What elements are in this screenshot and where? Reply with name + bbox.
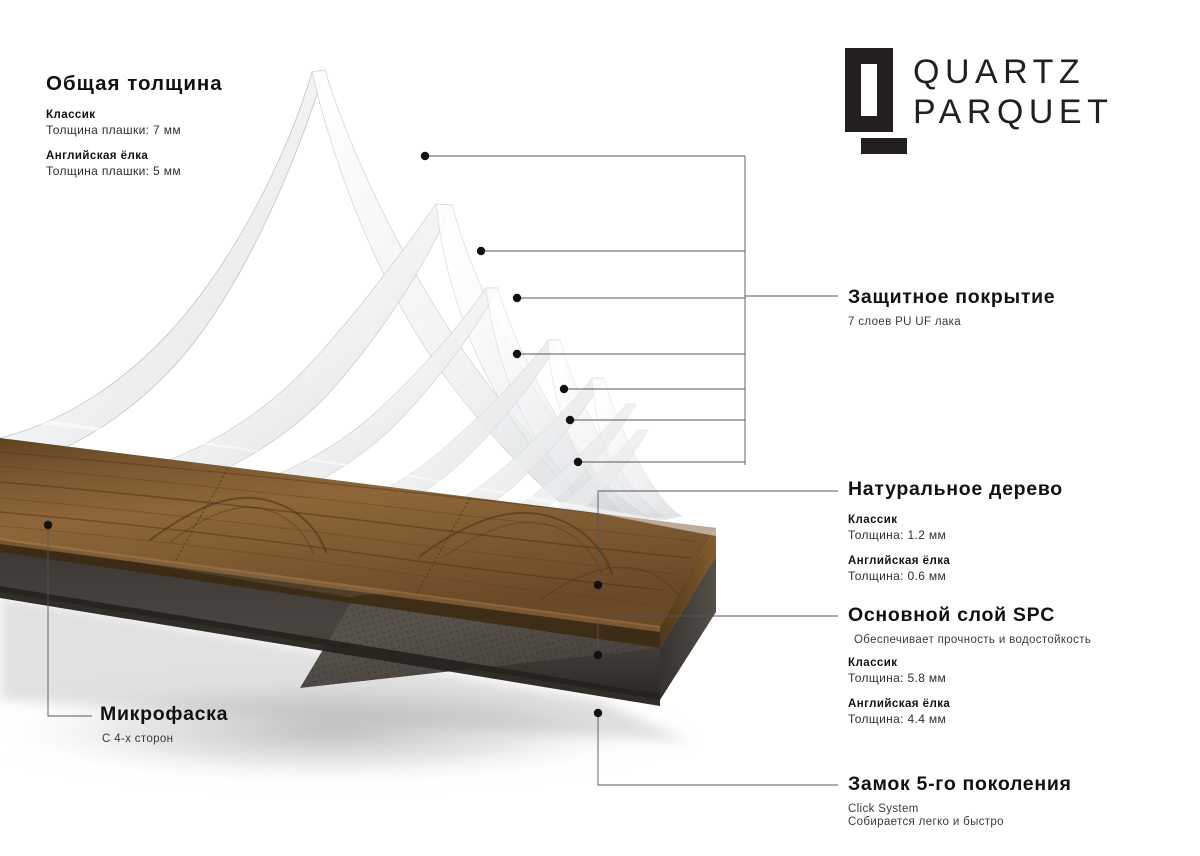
variant-label: Классик — [848, 657, 1091, 669]
logo-q-slot-icon — [861, 64, 877, 116]
lock-block: Замок 5-го поколения Click System Собира… — [848, 773, 1072, 828]
total-thickness-title: Общая толщина — [46, 72, 223, 96]
natural-wood-classic: Классик Толщина: 1.2 мм — [848, 514, 1063, 542]
lock-line-2: Собирается легко и быстро — [848, 816, 1072, 828]
spc-core-herringbone: Английская ёлка Толщина: 4.4 мм — [848, 698, 1091, 726]
variant-value: Толщина: 5.8 мм — [848, 671, 1091, 685]
variant-value: Толщина плашки: 5 мм — [46, 164, 223, 178]
variant-label: Английская ёлка — [46, 150, 223, 162]
logo-q-tail-icon — [861, 138, 907, 154]
total-thickness-herringbone: Английская ёлка Толщина плашки: 5 мм — [46, 150, 223, 178]
variant-label: Английская ёлка — [848, 698, 1091, 710]
lock-title: Замок 5-го поколения — [848, 773, 1072, 796]
logo-line-parquet: PARQUET — [913, 92, 1113, 132]
logo-line-quartz: QUARTZ — [913, 52, 1113, 92]
total-thickness-block: Общая толщина Классик Толщина плашки: 7 … — [46, 72, 223, 178]
total-thickness-classic: Классик Толщина плашки: 7 мм — [46, 109, 223, 137]
spc-core-subtitle: Обеспечивает прочность и водостойкость — [854, 634, 1091, 646]
spc-core-title: Основной слой SPC — [848, 604, 1091, 627]
lock-line-1: Click System — [848, 803, 1072, 815]
variant-value: Толщина: 4.4 мм — [848, 712, 1091, 726]
protective-coating-block: Защитное покрытие 7 слоев PU UF лака — [848, 286, 1055, 328]
variant-value: Толщина: 0.6 мм — [848, 569, 1063, 583]
spc-core-classic: Классик Толщина: 5.8 мм — [848, 657, 1091, 685]
spc-core-block: Основной слой SPC Обеспечивает прочность… — [848, 604, 1091, 726]
microbevel-subtitle: С 4-х сторон — [102, 733, 228, 745]
protective-coating-title: Защитное покрытие — [848, 286, 1055, 309]
variant-label: Классик — [848, 514, 1063, 526]
variant-label: Классик — [46, 109, 223, 121]
variant-value: Толщина: 1.2 мм — [848, 528, 1063, 542]
protective-coating-subtitle: 7 слоев PU UF лака — [848, 316, 1055, 328]
natural-wood-block: Натуральное дерево Классик Толщина: 1.2 … — [848, 478, 1063, 583]
variant-value: Толщина плашки: 7 мм — [46, 123, 223, 137]
variant-label: Английская ёлка — [848, 555, 1063, 567]
microbevel-title: Микрофаска — [100, 703, 228, 726]
diagram-canvas: QUARTZ PARQUET Общая толщина Классик Тол… — [0, 0, 1200, 856]
natural-wood-title: Натуральное дерево — [848, 478, 1063, 501]
microbevel-block: Микрофаска С 4-х сторон — [100, 703, 228, 745]
logo-wordmark: QUARTZ PARQUET — [913, 52, 1113, 132]
natural-wood-herringbone: Английская ёлка Толщина: 0.6 мм — [848, 555, 1063, 583]
brand-logo: QUARTZ PARQUET — [845, 48, 1105, 158]
